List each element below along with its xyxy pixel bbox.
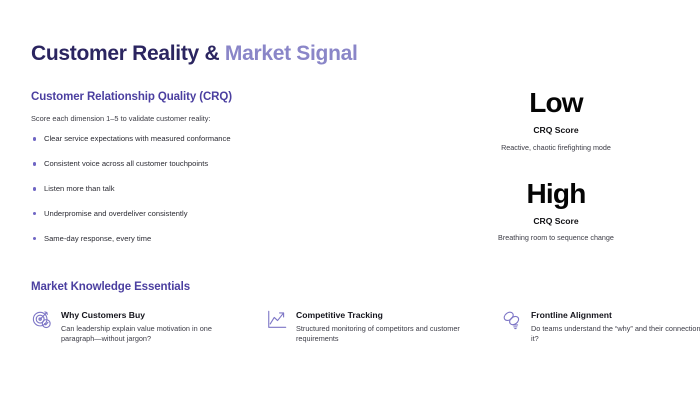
target-check-icon bbox=[31, 309, 53, 331]
card-description: Do teams understand the “why” and their … bbox=[531, 324, 700, 345]
market-knowledge-card: Competitive Tracking Structured monitori… bbox=[266, 309, 479, 345]
slide-root: Customer Reality & Market Signal Custome… bbox=[0, 0, 700, 400]
page-title-primary: Customer Reality & bbox=[31, 42, 219, 65]
list-item: Clear service expectations with measured… bbox=[31, 134, 331, 144]
list-item: Same-day response, every time bbox=[31, 234, 331, 244]
card-title: Why Customers Buy bbox=[61, 310, 244, 320]
card-description: Can leadership explain value motivation … bbox=[61, 324, 244, 345]
list-item: Consistent voice across all customer tou… bbox=[31, 159, 331, 169]
market-knowledge-card-row: Why Customers Buy Can leadership explain… bbox=[31, 309, 676, 345]
crq-heading: Customer Relationship Quality (CRQ) bbox=[31, 91, 331, 105]
market-knowledge-card: Frontline Alignment Do teams understand … bbox=[501, 309, 700, 345]
score-value: Low bbox=[440, 88, 672, 117]
page-title: Customer Reality & Market Signal bbox=[31, 42, 358, 66]
crq-score-column: Low CRQ Score Reactive, chaotic firefigh… bbox=[440, 88, 672, 242]
bullet-dot-icon bbox=[33, 212, 36, 215]
card-title: Competitive Tracking bbox=[296, 310, 479, 320]
score-card-high: High CRQ Score Breathing room to sequenc… bbox=[440, 179, 672, 243]
market-knowledge-card: Why Customers Buy Can leadership explain… bbox=[31, 309, 244, 345]
list-item: Underpromise and overdeliver consistentl… bbox=[31, 209, 331, 219]
card-description: Structured monitoring of competitors and… bbox=[296, 324, 479, 345]
card-title: Frontline Alignment bbox=[531, 310, 700, 320]
list-item-label: Clear service expectations with measured… bbox=[44, 134, 231, 143]
bullet-dot-icon bbox=[33, 237, 36, 240]
bullet-dot-icon bbox=[33, 187, 36, 190]
page-title-accent: Market Signal bbox=[225, 42, 358, 65]
list-item-label: Listen more than talk bbox=[44, 184, 115, 193]
link-signal-icon bbox=[501, 309, 523, 331]
market-knowledge-card-text: Why Customers Buy Can leadership explain… bbox=[61, 309, 244, 345]
score-card-low: Low CRQ Score Reactive, chaotic firefigh… bbox=[440, 88, 672, 152]
trending-up-chart-icon bbox=[266, 309, 288, 331]
list-item-label: Underpromise and overdeliver consistentl… bbox=[44, 209, 188, 218]
bullet-dot-icon bbox=[33, 137, 36, 140]
score-label: CRQ Score bbox=[440, 125, 672, 135]
market-knowledge-card-text: Frontline Alignment Do teams understand … bbox=[531, 309, 700, 345]
score-description: Breathing room to sequence change bbox=[440, 233, 672, 242]
bullet-dot-icon bbox=[33, 162, 36, 165]
score-label: CRQ Score bbox=[440, 216, 672, 226]
list-item: Listen more than talk bbox=[31, 184, 331, 194]
crq-section: Customer Relationship Quality (CRQ) Scor… bbox=[31, 91, 331, 244]
score-value: High bbox=[440, 179, 672, 208]
list-item-label: Same-day response, every time bbox=[44, 234, 151, 243]
market-knowledge-heading: Market Knowledge Essentials bbox=[31, 281, 676, 295]
crq-subtitle: Score each dimension 1–5 to validate cus… bbox=[31, 114, 331, 124]
market-knowledge-section: Market Knowledge Essentials Why Custo bbox=[31, 281, 676, 345]
score-description: Reactive, chaotic firefighting mode bbox=[440, 143, 672, 152]
market-knowledge-card-text: Competitive Tracking Structured monitori… bbox=[296, 309, 479, 345]
crq-list: Clear service expectations with measured… bbox=[31, 134, 331, 243]
list-item-label: Consistent voice across all customer tou… bbox=[44, 159, 208, 168]
